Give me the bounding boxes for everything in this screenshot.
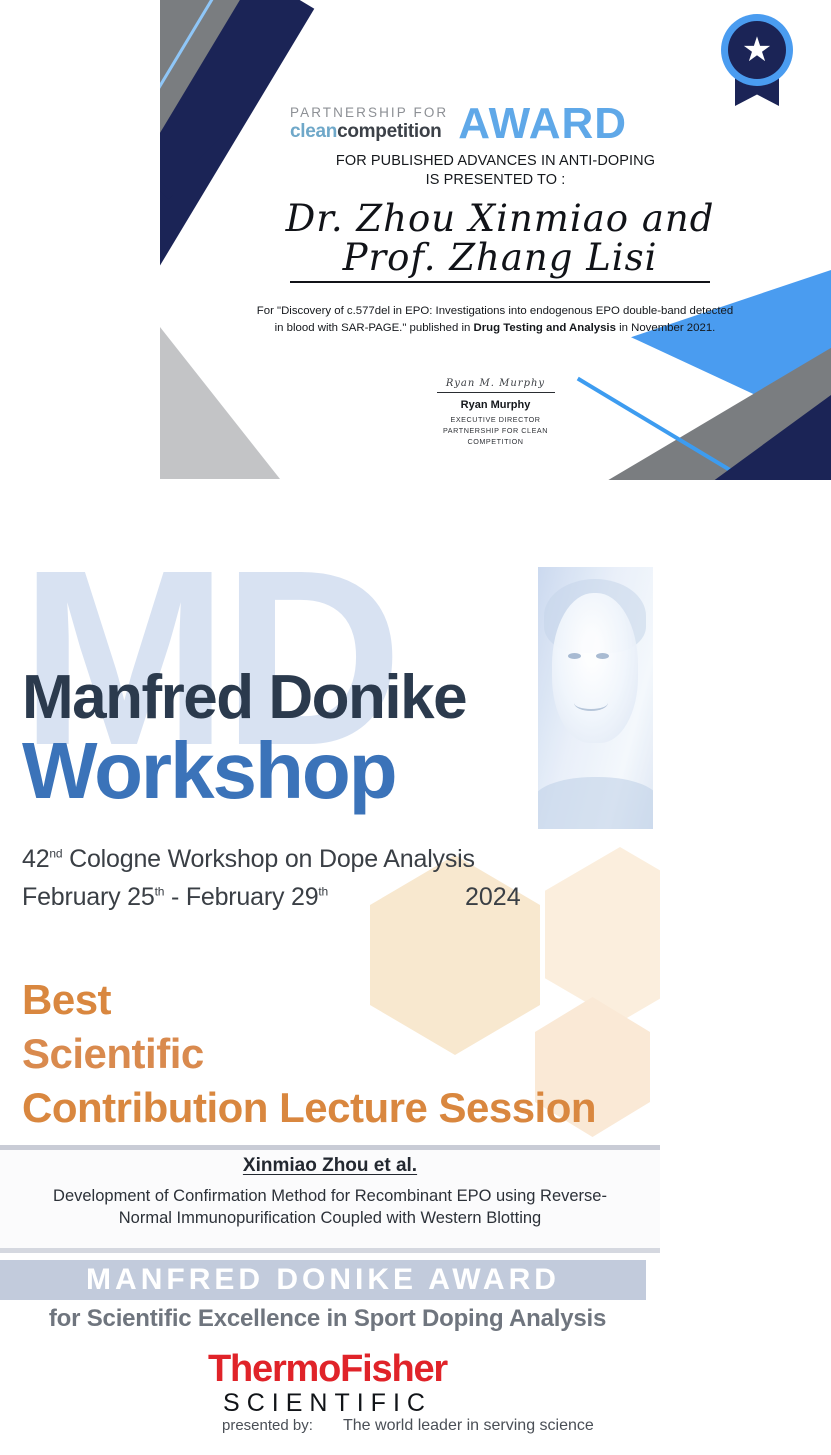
- thermofisher-scientific: SCIENTIFIC: [0, 1391, 655, 1416]
- poster-title-line1: Manfred Donike: [22, 667, 466, 729]
- portrait-smile: [574, 695, 608, 711]
- certificate-citation: For "Discovery of c.577del in EPO: Inves…: [255, 303, 735, 337]
- certificate-subtitle-line1: FOR PUBLISHED ADVANCES IN ANTI-DOPING: [160, 152, 831, 171]
- thermofisher-logo: ThermoFisher SCIENTIFIC: [0, 1350, 655, 1416]
- citation-part-2: in November 2021.: [616, 322, 715, 334]
- citation-journal: Drug Testing and Analysis: [474, 322, 616, 334]
- award-category-line1: Best: [22, 973, 596, 1027]
- pcc-logo: PARTNERSHIP FOR cleancompetition: [290, 106, 448, 144]
- award-name-text: MANFRED DONIKE AWARD: [0, 1263, 646, 1297]
- portrait-face: [552, 593, 638, 743]
- signatory-role-line3: COMPETITION: [160, 436, 831, 447]
- pcc-logo-bottom-line: cleancompetition: [290, 122, 448, 141]
- pcc-logo-clean: clean: [290, 121, 337, 142]
- thermofisher-tagline: The world leader in serving science: [343, 1417, 594, 1435]
- signatory-role-line1: EXECUTIVE DIRECTOR: [160, 414, 831, 425]
- edition-number: 42: [22, 845, 49, 873]
- recipient-line-1: Dr. Zhou Xinmiao and: [210, 198, 790, 239]
- pcc-logo-competition: competition: [337, 121, 441, 142]
- portrait-eye-left: [568, 653, 581, 659]
- edition-text: Cologne Workshop on Dope Analysis: [62, 845, 474, 873]
- award-category-title: Best Scientific Contribution Lecture Ses…: [22, 973, 596, 1134]
- portrait-shoulders: [538, 777, 653, 829]
- date-start: February 25: [22, 883, 155, 911]
- date-separator: - February 29: [164, 883, 318, 911]
- edition-ordinal: nd: [49, 847, 62, 861]
- paper-author: Xinmiao Zhou et al.: [0, 1155, 660, 1177]
- certificate-subtitle: FOR PUBLISHED ADVANCES IN ANTI-DOPING IS…: [160, 152, 831, 190]
- date-end-ordinal: th: [318, 885, 328, 899]
- pcc-logo-top-line: PARTNERSHIP FOR: [290, 106, 448, 120]
- workshop-dates-line: February 25th - February 29th: [22, 883, 328, 912]
- award-name-band: MANFRED DONIKE AWARD: [0, 1260, 646, 1300]
- certificate-subtitle-line2: IS PRESENTED TO :: [160, 171, 831, 190]
- signature-rule: [437, 392, 555, 393]
- date-start-ordinal: th: [155, 885, 165, 899]
- recipient-line-2: Prof. Zhang Lisi: [210, 237, 790, 278]
- award-word: AWARD: [458, 104, 627, 144]
- signature-block: Ryan M. Murphy Ryan Murphy EXECUTIVE DIR…: [160, 378, 831, 447]
- portrait-eye-right: [596, 653, 609, 659]
- signatory-role-line2: PARTNERSHIP FOR CLEAN: [160, 425, 831, 436]
- signatory-name: Ryan Murphy: [160, 399, 831, 411]
- paper-title: Development of Confirmation Method for R…: [30, 1185, 630, 1230]
- award-category-line3: Contribution Lecture Session: [22, 1081, 596, 1135]
- recipient-underline: [290, 281, 710, 283]
- signature-script: Ryan M. Murphy: [160, 378, 831, 389]
- workshop-year: 2024: [465, 883, 521, 912]
- award-name-subtitle: for Scientific Excellence in Sport Dopin…: [0, 1305, 655, 1333]
- thermofisher-name: ThermoFisher: [0, 1350, 655, 1388]
- signatory-role: EXECUTIVE DIRECTOR PARTNERSHIP FOR CLEAN…: [160, 414, 831, 447]
- poster-title-line2: Workshop: [22, 731, 396, 811]
- award-category-line2: Scientific: [22, 1027, 596, 1081]
- manfred-donike-portrait-icon: [538, 567, 653, 829]
- pcc-logo-row: PARTNERSHIP FOR cleancompetition AWARD: [290, 104, 710, 144]
- workshop-edition-line: 42nd Cologne Workshop on Dope Analysis: [22, 845, 475, 874]
- manfred-donike-award-poster: MD Manfred Donike Workshop 42nd Cologne …: [0, 545, 660, 1455]
- certificate-recipients: Dr. Zhou Xinmiao and Prof. Zhang Lisi: [210, 198, 790, 283]
- presented-by-label: presented by:: [222, 1417, 313, 1434]
- pcc-award-certificate: ★ PARTNERSHIP FOR cleancompetition AWARD…: [160, 0, 831, 480]
